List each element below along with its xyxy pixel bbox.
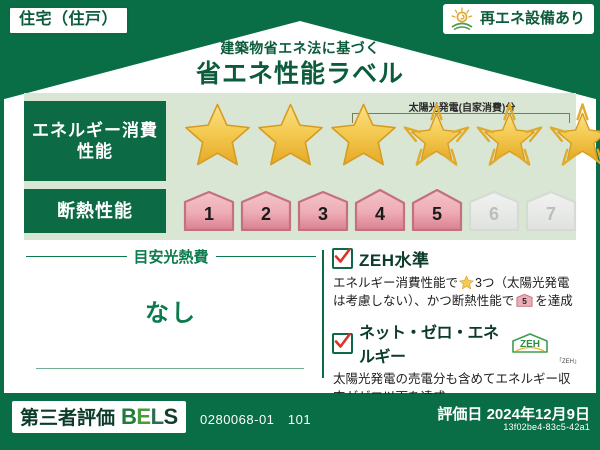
certification-checks: ZEH水準 エネルギー消費性能で3つ（太陽光発電は考慮しない）、かつ断熱性能で5… — [332, 246, 580, 407]
insulation-grade-1: 1 — [182, 189, 236, 231]
evaluation-hash: 13f02be4-83c5-42a1 — [503, 422, 590, 432]
energy-performance-label: エネルギー消費性能 — [24, 101, 166, 181]
energy-performance-row: エネルギー消費性能 太陽光発電(自家消費)分 — [24, 101, 576, 181]
zeh-standard-title: ZEH水準 — [359, 246, 430, 271]
house-type-badge: 住宅（住戸） — [8, 6, 129, 35]
svg-text:ZEH: ZEH — [520, 339, 540, 350]
checkmark-icon — [333, 247, 352, 266]
utility-cost-heading: 目安光熱費 — [26, 246, 316, 267]
star-icon — [328, 99, 399, 171]
insulation-grade-5: 5 — [410, 189, 464, 231]
insulation-grade-3: 3 — [296, 189, 350, 231]
section-divider — [322, 250, 324, 378]
star-2 — [255, 99, 326, 171]
utility-cost-heading-text: 目安光熱費 — [134, 246, 209, 267]
bels-logo-box: 第三者評価 BELS — [12, 401, 186, 433]
net-zero-energy-title: ネット・ゼロ・エネルギー — [359, 319, 504, 367]
zeh-logo-subtext: 「ZEH」 — [556, 356, 580, 367]
third-party-evaluation-label: 第三者評価 — [20, 403, 115, 430]
checkmark-icon — [333, 332, 352, 351]
evaluation-date: 評価日 2024年12月9日 — [437, 403, 590, 424]
star-3 — [328, 99, 399, 171]
heading-rule-right — [216, 256, 317, 257]
energy-label-root: 住宅（住戸） 再エネ設備あり 建築物省エネ法に基づく 省エネ性能ラベル エネルギ… — [0, 0, 600, 450]
ratings-panel: エネルギー消費性能 太陽光発電(自家消費)分 — [24, 93, 576, 240]
star-5-solar — [474, 99, 545, 171]
renewable-equipment-label: 再エネ設備あり — [480, 11, 585, 28]
svg-text:5: 5 — [522, 297, 527, 306]
zeh-standard-checkbox[interactable] — [332, 248, 353, 269]
insulation-grade-5-number: 5 — [410, 189, 464, 231]
sun-icon — [449, 7, 475, 31]
zeh-desc-part-3: を達成 — [535, 294, 573, 308]
utility-cost-block: 目安光熱費 なし — [26, 246, 316, 328]
utility-cost-bottom-rule — [36, 368, 304, 369]
star-rating — [182, 99, 600, 171]
insulation-grade-4-number: 4 — [353, 189, 407, 231]
bels-logo: BELS — [121, 404, 178, 430]
insulation-performance-content: 1 2 3 — [166, 189, 576, 233]
net-zero-energy-check-row: ネット・ゼロ・エネルギー ZEH 「ZEH」 — [332, 319, 580, 367]
insulation-grade-4: 4 — [353, 189, 407, 231]
star-icon — [255, 99, 326, 171]
star-solar-icon — [547, 99, 600, 171]
star-icon — [459, 275, 474, 290]
insulation-performance-row: 断熱性能 1 — [24, 189, 576, 233]
star-solar-icon — [474, 99, 545, 171]
insulation-grade-7: 7 — [524, 189, 578, 231]
insulation-grade-6-number: 6 — [467, 189, 521, 231]
label-title: 省エネ性能ラベル — [0, 54, 600, 90]
star-solar-icon — [401, 99, 472, 171]
insulation-grade-3-number: 3 — [296, 189, 350, 231]
checks-spacer — [332, 310, 580, 319]
insulation-grade-2-number: 2 — [239, 189, 293, 231]
insulation-grade-2: 2 — [239, 189, 293, 231]
renewable-equipment-badge: 再エネ設備あり — [443, 4, 594, 34]
insulation-grade-1-number: 1 — [182, 189, 236, 231]
insulation-grade-6: 6 — [467, 189, 521, 231]
heading-rule-left — [26, 256, 127, 257]
insulation-grade-7-number: 7 — [524, 189, 578, 231]
star-icon — [182, 99, 253, 171]
insulation-performance-label: 断熱性能 — [24, 189, 166, 233]
zeh-desc-part-1: エネルギー消費性能で — [333, 276, 458, 290]
house-badge-icon: 5 — [516, 293, 533, 307]
energy-performance-content: 太陽光発電(自家消費)分 — [166, 101, 576, 181]
net-zero-energy-checkbox[interactable] — [332, 333, 353, 354]
star-4-solar — [401, 99, 472, 171]
zeh-logo-icon: ZEH — [510, 332, 550, 354]
insulation-grade-scale: 1 2 3 — [182, 189, 578, 231]
star-1 — [182, 99, 253, 171]
utility-cost-value: なし — [26, 293, 316, 328]
star-6-solar — [547, 99, 600, 171]
footer-bar: 第三者評価 BELS 0280068-01 101 評価日 2024年12月9日… — [0, 394, 600, 450]
certificate-id: 0280068-01 101 — [200, 409, 311, 428]
zeh-standard-check-row: ZEH水準 — [332, 246, 580, 271]
zeh-standard-description: エネルギー消費性能で3つ（太陽光発電は考慮しない）、かつ断熱性能で5を達成 — [333, 274, 580, 310]
